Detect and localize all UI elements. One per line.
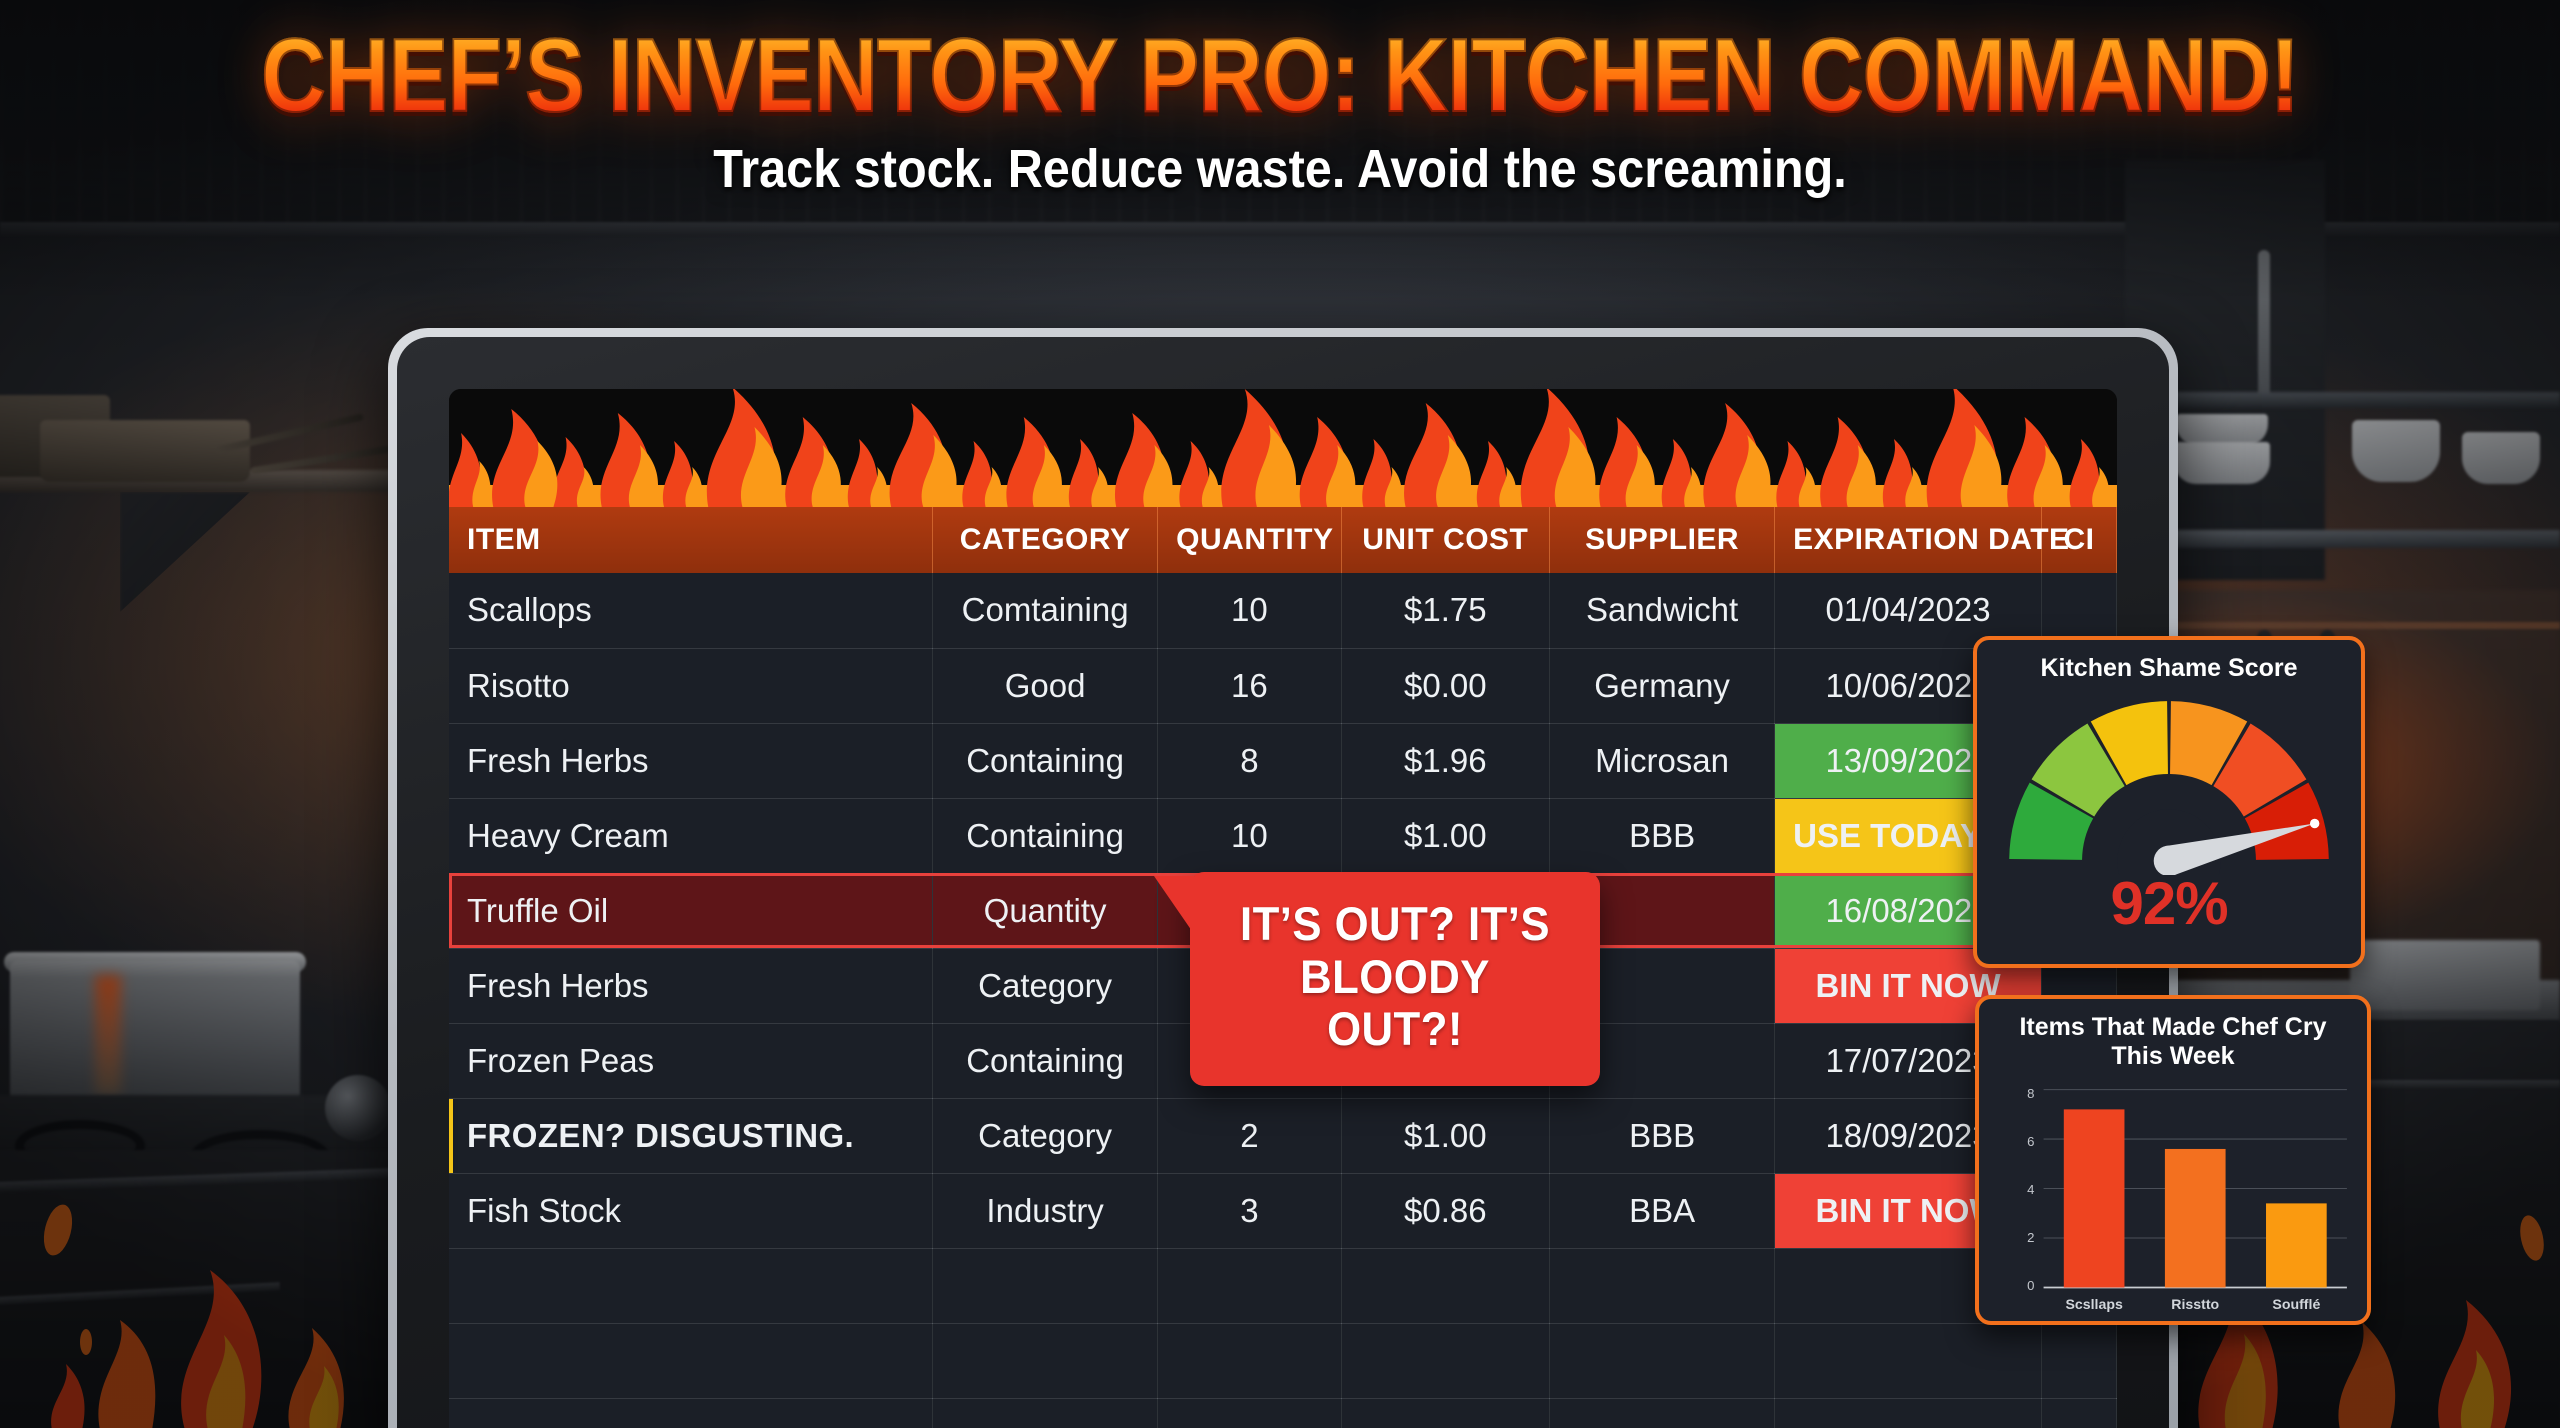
cell-category[interactable]: Industry [933,1173,1158,1248]
cell-item[interactable]: Risotto [449,648,933,723]
cell-quantity[interactable]: 10 [1158,798,1341,873]
table-row[interactable]: ScallopsComtaining10$1.75Sandwicht01/04/… [449,573,2117,648]
table-row[interactable]: RisottoGood16$0.00Germany10/06/2023 [449,648,2117,723]
gauge-value-label: 92% [1987,869,2351,938]
flame-banner-svg [449,389,2117,507]
cell-item[interactable] [449,1398,933,1428]
cell-category[interactable]: Comtaining [933,573,1158,648]
cell-item[interactable]: Heavy Cream [449,798,933,873]
cell-expiration-date[interactable] [1775,1323,2042,1398]
chef-cry-chart-card: Items That Made Chef Cry This Week 02468… [1975,995,2371,1325]
cell-item[interactable]: Fish Stock [449,1173,933,1248]
cell-category[interactable]: Containing [933,723,1158,798]
cell-category[interactable]: Quantity [933,873,1158,948]
svg-text:Risstto: Risstto [2171,1296,2219,1312]
gauge-title: Kitchen Shame Score [1987,654,2351,683]
cell-truncated[interactable] [2041,1323,2116,1398]
svg-text:8: 8 [2027,1086,2034,1101]
bar-chart-title: Items That Made Chef Cry This Week [1991,1013,2355,1071]
column-header-quantity[interactable]: QUANTITY [1158,507,1341,573]
column-header-item[interactable]: ITEM [449,507,933,573]
table-header-row: ITEM CATEGORY QUANTITY UNIT COST SUPPLIE… [449,507,2117,573]
cell-expiration-date[interactable] [1775,1398,2042,1428]
cell-unit-cost[interactable]: $1.96 [1341,723,1549,798]
cell-item[interactable]: Fresh Herbs [449,948,933,1023]
page-title: CHEF’S INVENTORY PRO: KITCHEN COMMAND! [179,24,2381,128]
cell-unit-cost[interactable] [1341,1323,1549,1398]
cell-supplier[interactable]: Germany [1550,648,1775,723]
svg-text:4: 4 [2027,1182,2034,1197]
cell-supplier[interactable]: Microsan [1550,723,1775,798]
callout-line-1: IT’S OUT? IT’S [1227,898,1564,951]
cell-item[interactable] [449,1248,933,1323]
svg-text:Soufflé: Soufflé [2272,1296,2320,1312]
cell-supplier[interactable]: Sandwicht [1550,573,1775,648]
table-row[interactable]: Fresh HerbsContaining8$1.96Microsan13/09… [449,723,2117,798]
svg-text:0: 0 [2027,1278,2034,1293]
out-of-stock-callout: IT’S OUT? IT’S BLOODY OUT?! [1190,872,1600,1086]
kitchen-shame-score-card: Kitchen Shame Score 92% [1973,636,2365,968]
flame-banner [449,389,2117,507]
svg-text:6: 6 [2027,1134,2034,1149]
cell-item[interactable] [449,1323,933,1398]
bar-chart-labels: 02468 ScsllapsRissttoSoufflé [1991,1075,2355,1325]
cell-quantity[interactable]: 2 [1158,1098,1341,1173]
cell-unit-cost[interactable] [1341,1248,1549,1323]
cell-category[interactable]: Containing [933,1023,1158,1098]
cell-quantity[interactable]: 8 [1158,723,1341,798]
cell-item[interactable]: Scallops [449,573,933,648]
table-row[interactable]: Fish StockIndustry3$0.86BBABIN IT NOW [449,1173,2117,1248]
gauge-svg [1987,687,2351,875]
cell-item[interactable]: Frozen Peas [449,1023,933,1098]
column-header-category[interactable]: CATEGORY [933,507,1158,573]
cell-category[interactable]: Category [933,1098,1158,1173]
table-row[interactable] [449,1248,2117,1323]
cell-unit-cost[interactable] [1341,1398,1549,1428]
cell-supplier[interactable] [1550,1323,1775,1398]
cell-supplier[interactable] [1550,1248,1775,1323]
cell-category[interactable] [933,1398,1158,1428]
cell-unit-cost[interactable]: $1.75 [1341,573,1549,648]
cell-unit-cost[interactable]: $0.86 [1341,1173,1549,1248]
table-row[interactable] [449,1323,2117,1398]
cell-category[interactable]: Good [933,648,1158,723]
cell-unit-cost[interactable]: $1.00 [1341,1098,1549,1173]
cell-truncated[interactable] [2041,1398,2116,1428]
table-row[interactable]: Heavy CreamContaining10$1.00BBBUSE TODAY… [449,798,2117,873]
column-header-supplier[interactable]: SUPPLIER [1550,507,1775,573]
cell-category[interactable] [933,1248,1158,1323]
cell-supplier[interactable]: BBA [1550,1173,1775,1248]
cell-supplier[interactable]: BBB [1550,798,1775,873]
table-row[interactable]: FROZEN? DISGUSTING.Category2$1.00BBB18/0… [449,1098,2117,1173]
flag-icon[interactable] [449,1099,453,1174]
cell-item[interactable]: Fresh Herbs [449,723,933,798]
poster-header: CHEF’S INVENTORY PRO: KITCHEN COMMAND! T… [0,24,2560,200]
cell-quantity[interactable]: 3 [1158,1173,1341,1248]
svg-text:2: 2 [2027,1230,2034,1245]
cell-quantity[interactable] [1158,1323,1341,1398]
cell-category[interactable]: Containing [933,798,1158,873]
column-header-expiration-date[interactable]: EXPIRATION DATE [1775,507,2042,573]
column-header-unit-cost[interactable]: UNIT COST [1341,507,1549,573]
cell-unit-cost[interactable]: $1.00 [1341,798,1549,873]
cell-supplier[interactable]: BBB [1550,1098,1775,1173]
svg-text:Scsllaps: Scsllaps [2065,1296,2123,1312]
bar-chart: 02468 ScsllapsRissttoSoufflé [1991,1075,2355,1325]
table-row[interactable] [449,1398,2117,1428]
cell-quantity[interactable]: 10 [1158,573,1341,648]
callout-line-2: BLOODY OUT?! [1227,951,1564,1056]
cell-quantity[interactable]: 16 [1158,648,1341,723]
cell-category[interactable]: Category [933,948,1158,1023]
cell-unit-cost[interactable]: $0.00 [1341,648,1549,723]
page-subtitle: Track stock. Reduce waste. Avoid the scr… [128,138,2432,200]
cell-category[interactable] [933,1323,1158,1398]
cell-supplier[interactable] [1550,1398,1775,1428]
cell-item[interactable]: FROZEN? DISGUSTING. [449,1098,933,1173]
cell-quantity[interactable] [1158,1398,1341,1428]
cell-quantity[interactable] [1158,1248,1341,1323]
cell-item[interactable]: Truffle Oil [449,873,933,948]
